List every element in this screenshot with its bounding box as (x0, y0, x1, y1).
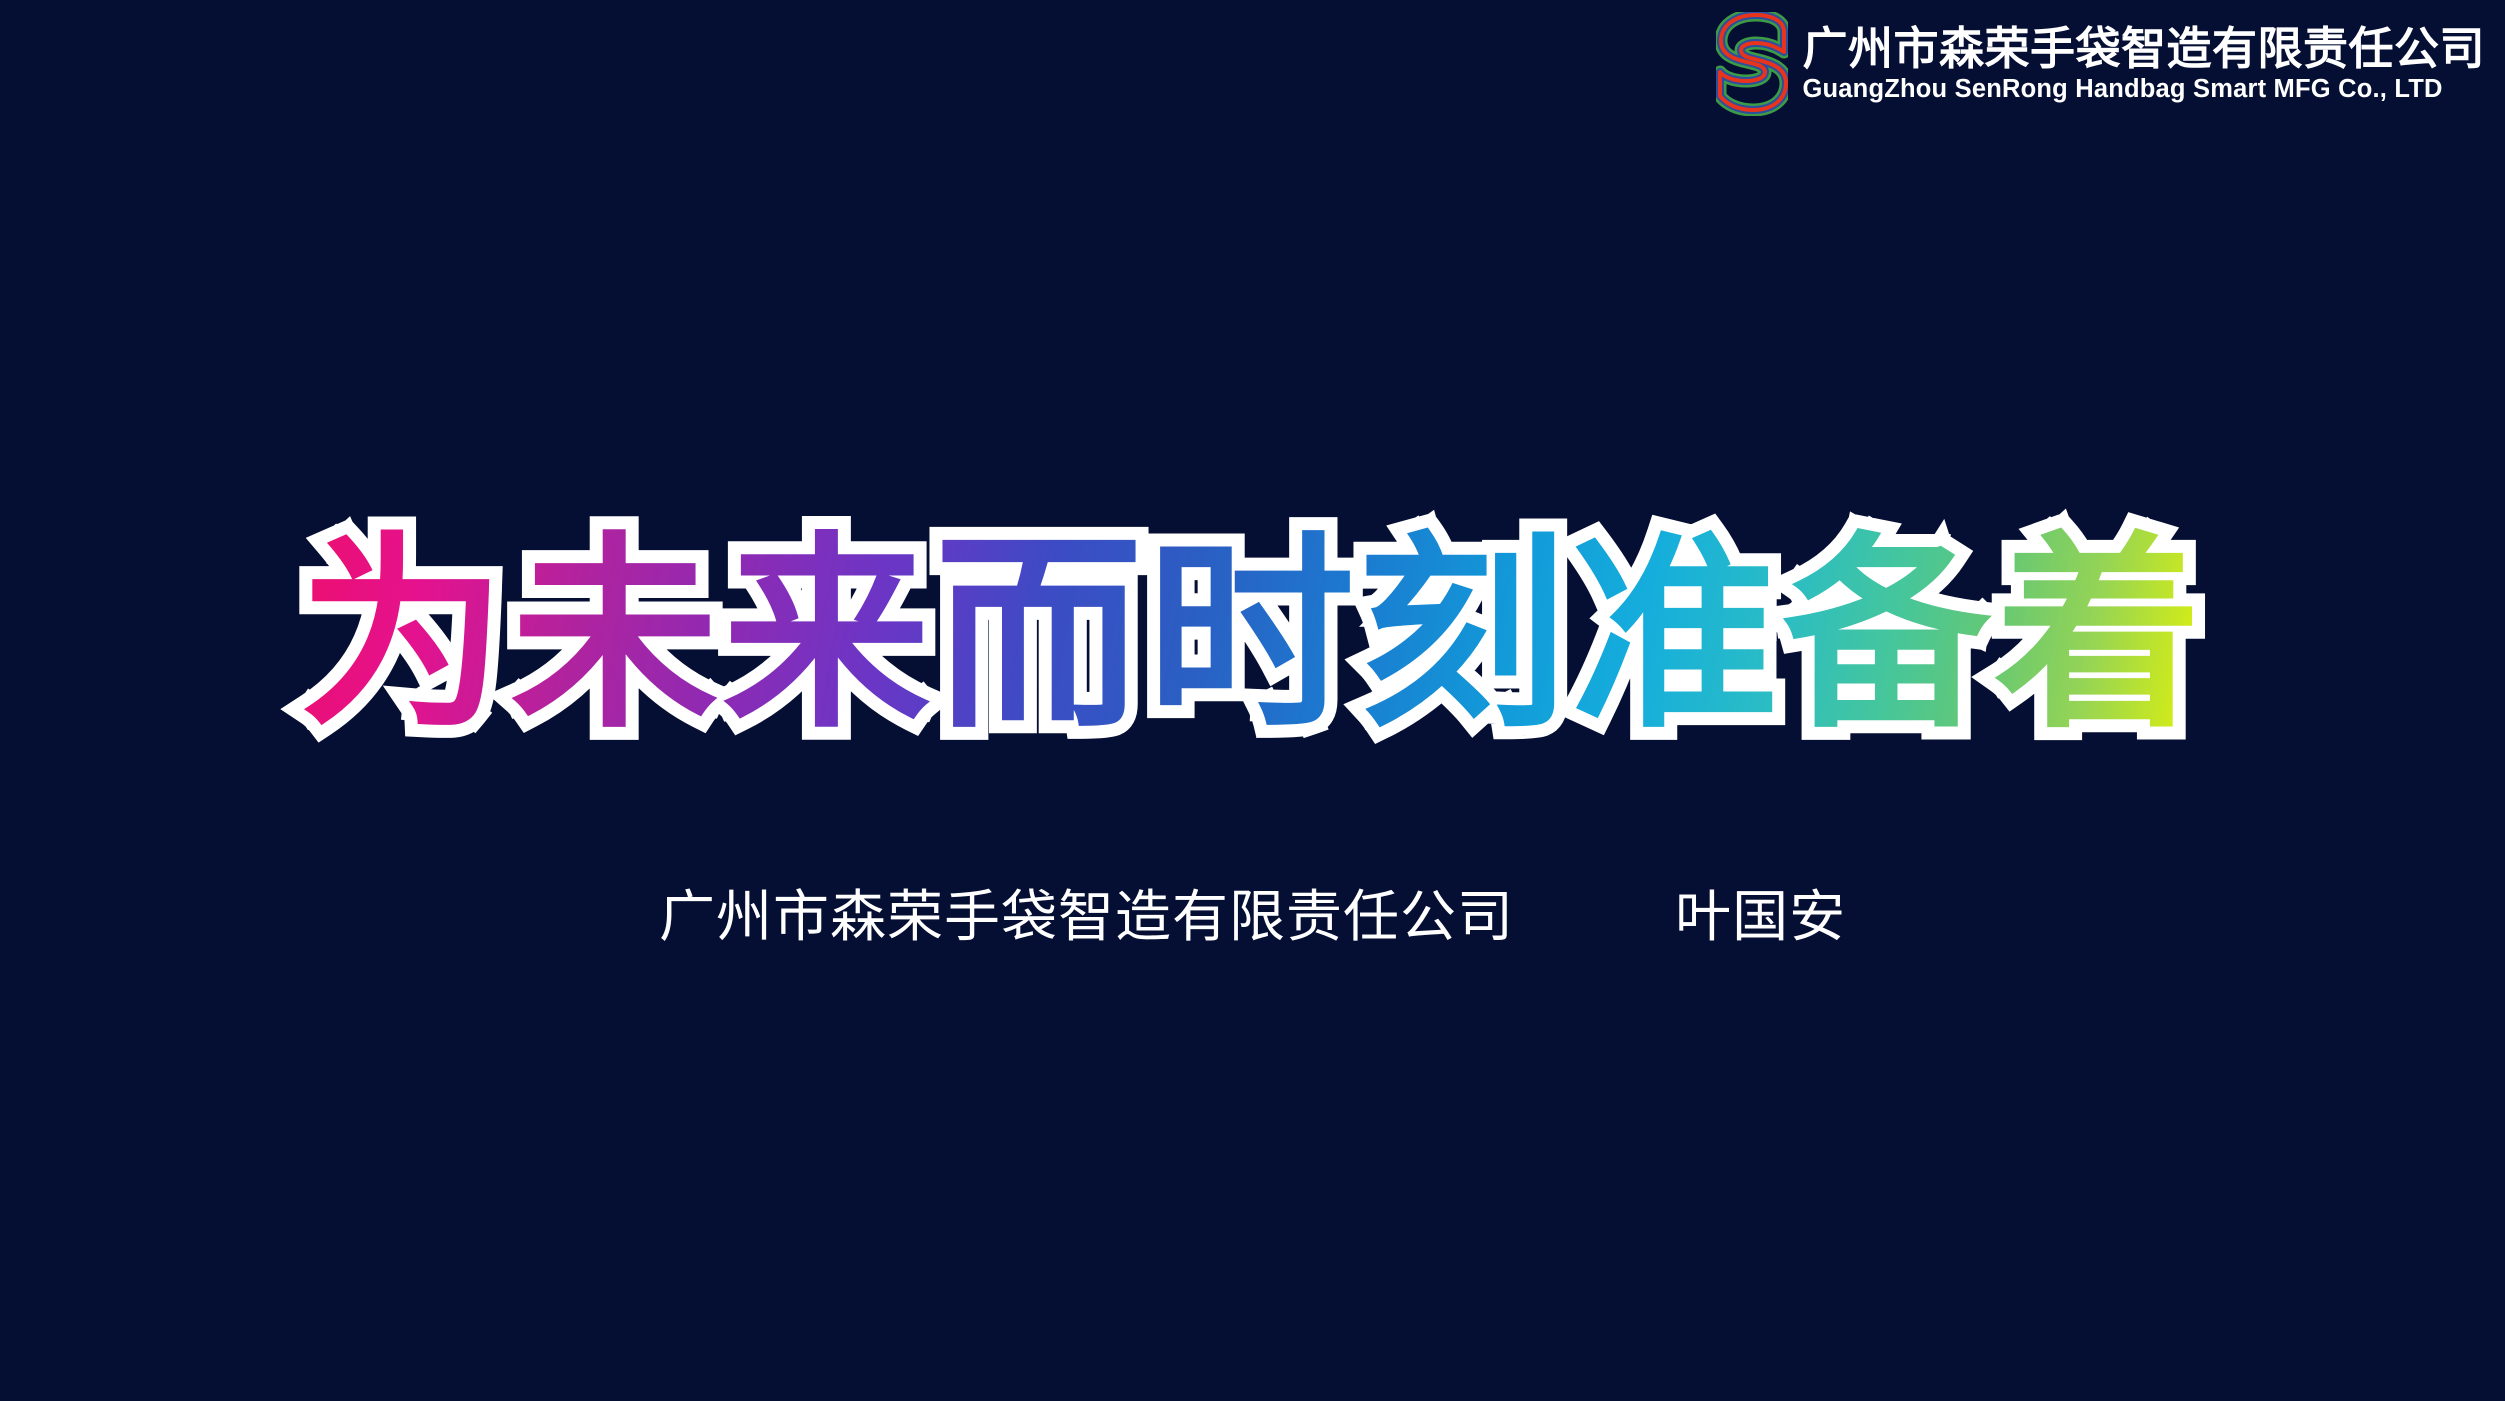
brand-text-block: 广州市森荣手袋智造有限责任公司 GuangZhou SenRong Handba… (1802, 25, 2485, 104)
byline-presenter-name: 叶国安 (1675, 885, 1846, 948)
byline: 广州市森荣手袋智造有限责任公司 叶国安 (0, 882, 2505, 952)
headline-container: 为未来而时刻准备着 为未来而时刻准备着 (0, 524, 2505, 749)
brand-name-english: GuangZhou SenRong Handbag Smart MFG Co.,… (1802, 75, 2485, 103)
headline-gradient-layer: 为未来而时刻准备着 (299, 515, 2207, 757)
senrong-s-ribbon-logo-icon (1716, 12, 1788, 116)
brand-name-chinese: 广州市森荣手袋智造有限责任公司 (1802, 25, 2485, 74)
brand-header: 广州市森荣手袋智造有限责任公司 GuangZhou SenRong Handba… (1716, 12, 2485, 116)
slide-headline: 为未来而时刻准备着 为未来而时刻准备着 (293, 524, 2213, 749)
byline-company-name: 广州市森荣手袋智造有限责任公司 (659, 885, 1514, 948)
title-slide: 广州市森荣手袋智造有限责任公司 GuangZhou SenRong Handba… (0, 0, 2505, 1401)
